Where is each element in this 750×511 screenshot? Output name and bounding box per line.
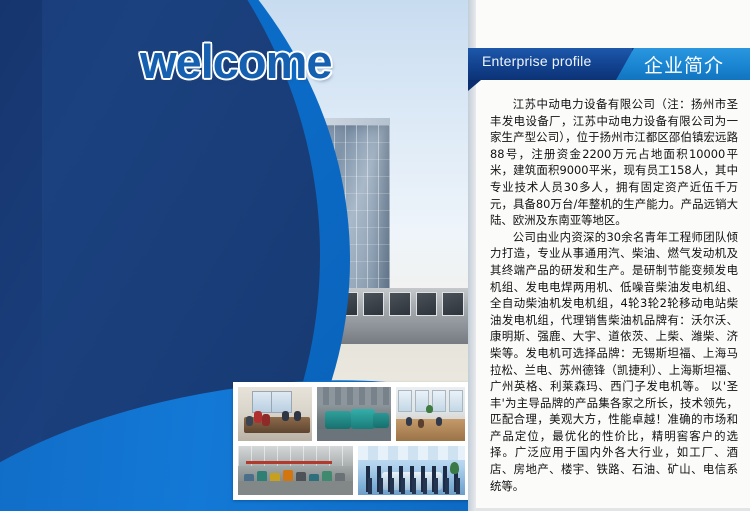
ribbon-chinese-title: 企业简介 [644,51,724,78]
panel-content-area: Enterprise profile 企业简介 江苏中动电力设备有限公司（注：扬… [476,0,750,511]
generator-assembly-line-photo [237,445,354,496]
photo-collage [233,382,468,500]
navy-left-edge [0,0,42,511]
welcome-heading: welcome [140,34,332,89]
profile-paragraph-1: 江苏中动电力设备有限公司（注：扬州市圣丰发电设备厂，江苏中动电力设备有限公司为一… [490,96,738,229]
ribbon-fold-tail [468,80,481,91]
ribbon-english-title: Enterprise profile [482,53,591,69]
section-header-ribbon: Enterprise profile 企业简介 [468,48,750,80]
office-interior-photo [395,386,466,442]
slide-canvas: 中动电力 江苏中动电力设备有限公司 Zhongdong Power Equipm… [0,0,750,511]
profile-body-text: 江苏中动电力设备有限公司（注：扬州市圣丰发电设备厂，江苏中动电力设备有限公司为一… [490,96,738,494]
profile-paragraph-2: 公司由业内资深的30余名青年工程师团队倾力打造，专业从事通用汽、柴油、燃气发动机… [490,229,738,495]
enterprise-profile-panel: Enterprise profile 企业简介 江苏中动电力设备有限公司（注：扬… [468,0,750,511]
conference-room-photo [357,445,466,496]
generator-workshop-photo [316,386,392,442]
left-visual-panel: 中动电力 江苏中动电力设备有限公司 Zhongdong Power Equipm… [0,0,468,511]
office-meeting-photo [237,386,313,442]
